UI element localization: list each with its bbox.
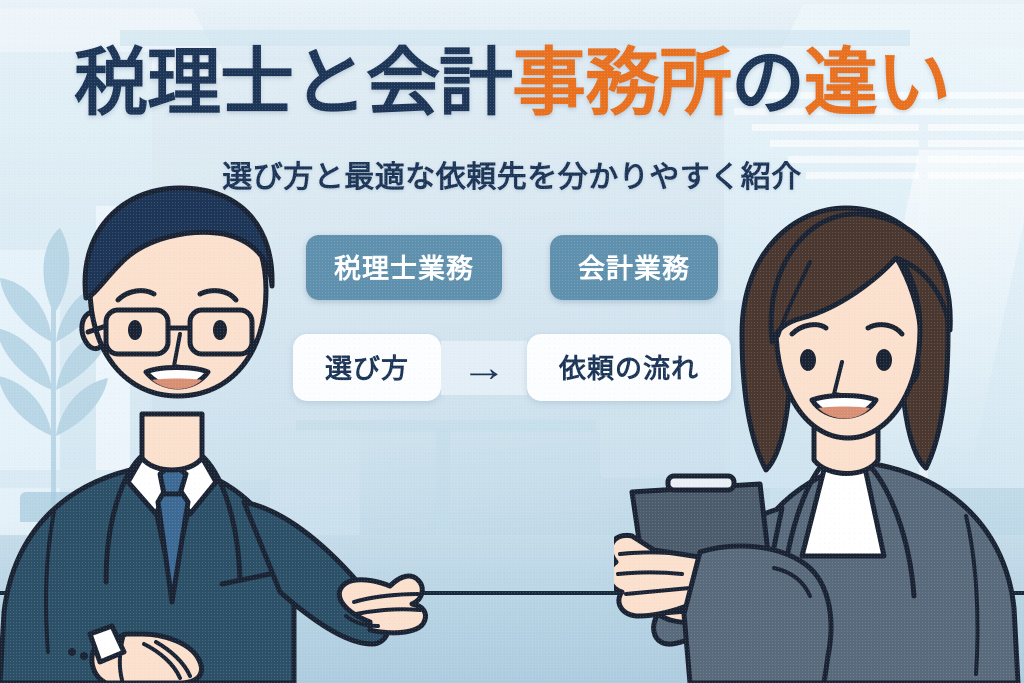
finger-line-2 bbox=[618, 573, 682, 575]
title-part-1: 税理士と会計 bbox=[74, 41, 512, 124]
flow-row: 選び方 → 依頼の流れ bbox=[0, 334, 1024, 401]
finger-line-1 bbox=[620, 553, 680, 555]
badge-accounting-services[interactable]: 会計業務 bbox=[550, 235, 718, 300]
badge-row: 税理士業務 会計業務 bbox=[0, 235, 1024, 300]
blazer-forearm bbox=[684, 546, 831, 683]
arrow-right-icon: → bbox=[461, 348, 507, 388]
title-part-2: 事務所 bbox=[512, 41, 731, 124]
sleeve-button-a bbox=[68, 648, 76, 656]
page-subtitle: 選び方と最適な依頼先を分かりやすく紹介 bbox=[0, 152, 1024, 196]
banner-image: 税理士と会計事務所の違い 選び方と最適な依頼先を分かりやすく紹介 税理士業務 会… bbox=[0, 0, 1024, 683]
window-blind-slat bbox=[752, 124, 1024, 131]
pill-request-flow[interactable]: 依頼の流れ bbox=[527, 334, 731, 401]
title-part-4: 違い bbox=[804, 41, 950, 124]
neck bbox=[142, 414, 202, 470]
clipboard-clip bbox=[668, 476, 734, 490]
sleeve-button-b bbox=[80, 652, 88, 660]
page-title: 税理士と会計事務所の違い bbox=[0, 46, 1024, 120]
flow-arrow-container: → bbox=[441, 341, 527, 395]
pill-how-to-choose[interactable]: 選び方 bbox=[293, 334, 441, 401]
badge-tax-accountant-services[interactable]: 税理士業務 bbox=[306, 235, 502, 300]
title-part-3: の bbox=[731, 41, 804, 124]
window-blind-slat bbox=[770, 140, 1024, 147]
